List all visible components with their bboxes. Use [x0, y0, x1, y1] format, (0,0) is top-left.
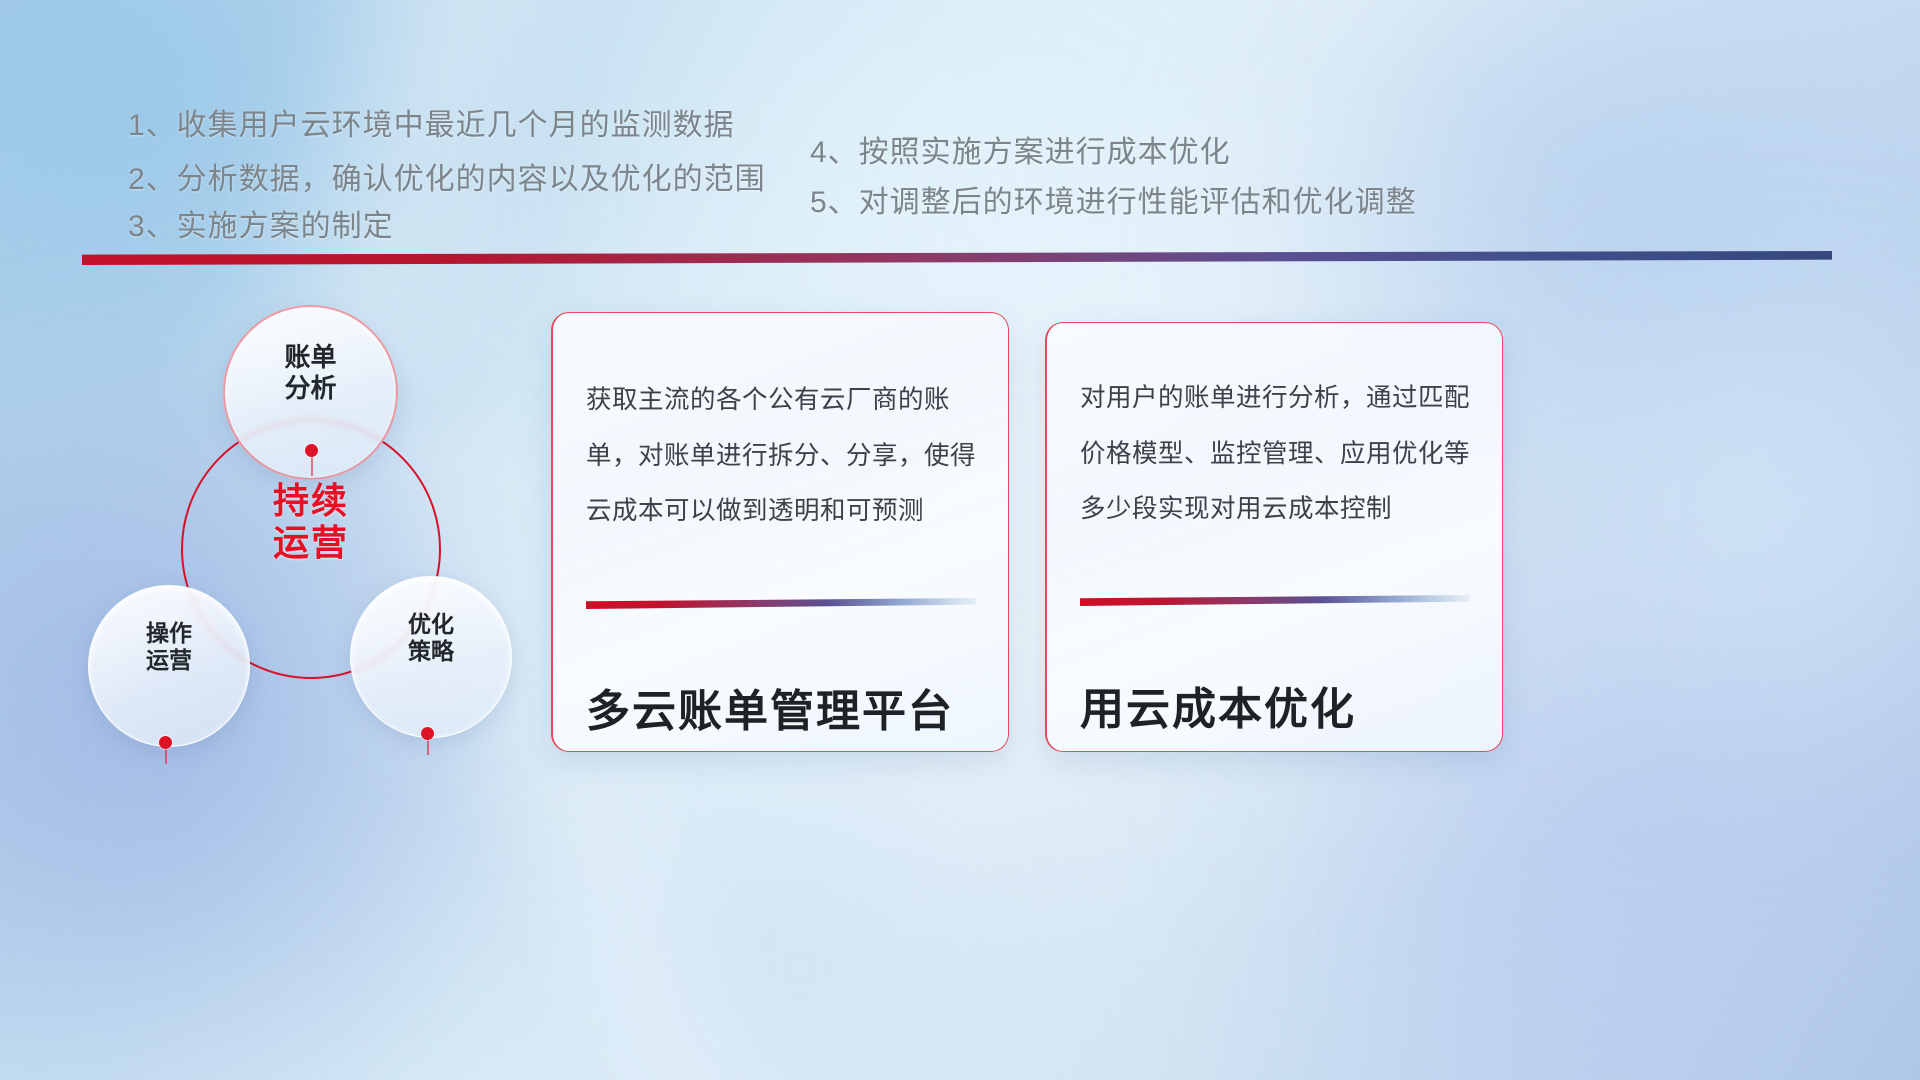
venn-label-bill-analysis: 账单 分析	[223, 342, 398, 403]
card-title: 多云账单管理平台	[586, 675, 986, 739]
card-divider	[586, 598, 976, 609]
step-item-3: 3、实施方案的制定	[128, 201, 394, 245]
venn-connector-bottom-left	[165, 748, 167, 764]
card-divider-wedge	[1080, 595, 1470, 606]
step-item-1: 1、收集用户云环境中最近几个月的监测数据	[128, 100, 735, 144]
step-item-4: 4、按照实施方案进行成本优化	[810, 127, 1231, 171]
divider-wedge	[82, 251, 1832, 265]
step-item-5: 5、对调整后的环境进行性能评估和优化调整	[810, 177, 1417, 221]
venn-node-dot-bottom-left	[159, 736, 172, 749]
venn-node-dot-bottom-right	[421, 727, 434, 740]
feature-card-multi-cloud-billing-platform[interactable]: 获取主流的各个公有云厂商的账单，对账单进行拆分、分享，使得云成本可以做到透明和可…	[551, 312, 1009, 752]
process-steps-list: 1、收集用户云环境中最近几个月的监测数据 2、分析数据，确认优化的内容以及优化的…	[0, 0, 1920, 260]
venn-connector-bottom-right	[427, 739, 429, 755]
venn-node-dot-top	[305, 444, 318, 457]
card-divider-wedge	[586, 598, 976, 609]
card-title: 用云成本优化	[1080, 673, 1480, 737]
venn-diagram: 账单 分析 操作 运营 优化 策略 持续 运营	[80, 286, 560, 766]
feature-card-cloud-cost-optimization[interactable]: 对用户的账单进行分析，通过匹配价格模型、监控管理、应用优化等多少段实现对用云成本…	[1045, 322, 1503, 752]
venn-label-operation: 操作 运营	[88, 620, 250, 674]
card-body-text: 获取主流的各个公有云厂商的账单，对账单进行拆分、分享，使得云成本可以做到透明和可…	[586, 373, 986, 540]
venn-label-center: 持续 运营	[181, 480, 441, 565]
venn-connector-top	[311, 456, 313, 476]
section-divider	[82, 251, 1832, 265]
card-body-text: 对用户的账单进行分析，通过匹配价格模型、监控管理、应用优化等多少段实现对用云成本…	[1080, 371, 1480, 538]
venn-label-optimization-strategy: 优化 策略	[350, 611, 512, 665]
step-item-2: 2、分析数据，确认优化的内容以及优化的范围	[128, 154, 766, 198]
card-divider	[1080, 595, 1470, 606]
